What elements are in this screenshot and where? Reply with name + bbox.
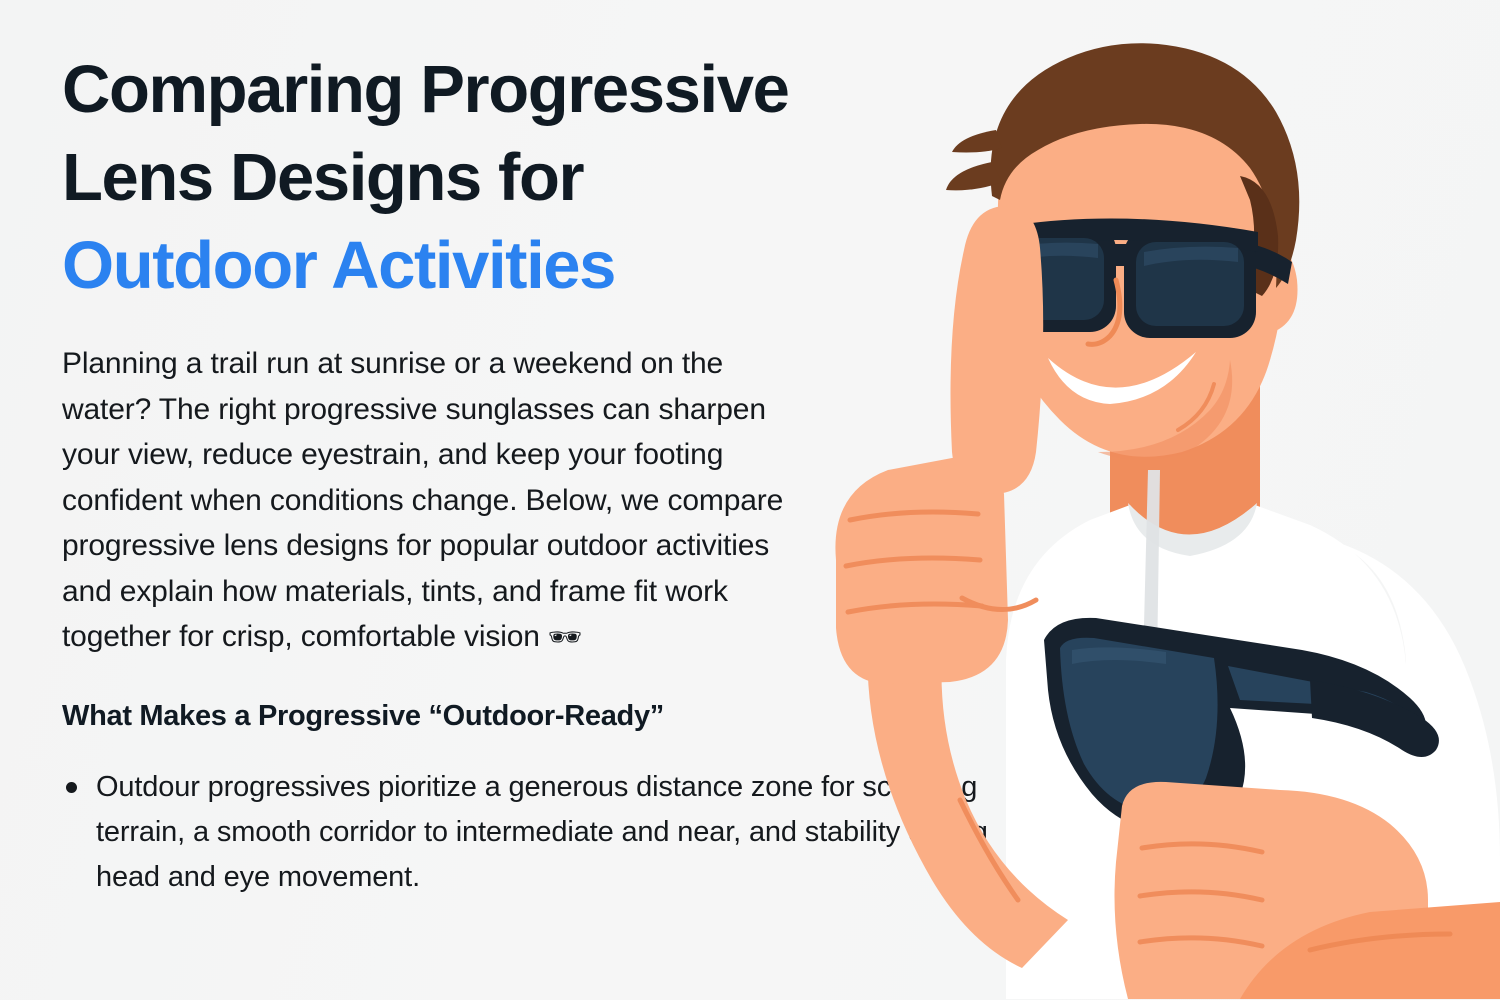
sunglasses-bridge bbox=[1110, 244, 1132, 266]
sunglasses-icon: 🕶 bbox=[548, 622, 582, 653]
hero-illustration bbox=[810, 0, 1500, 1000]
bullet-dot-icon bbox=[66, 782, 77, 793]
infographic-canvas: Comparing Progressive Lens Designs for O… bbox=[0, 0, 1500, 1000]
intro-paragraph: Planning a trail run at sunrise or a wee… bbox=[62, 310, 807, 661]
hair-tuft-upper bbox=[952, 130, 1002, 153]
man-with-sunglasses-illustration bbox=[810, 0, 1500, 1000]
thumb-shape bbox=[951, 206, 1044, 494]
intro-paragraph-text: Planning a trail run at sunrise or a wee… bbox=[62, 347, 783, 653]
